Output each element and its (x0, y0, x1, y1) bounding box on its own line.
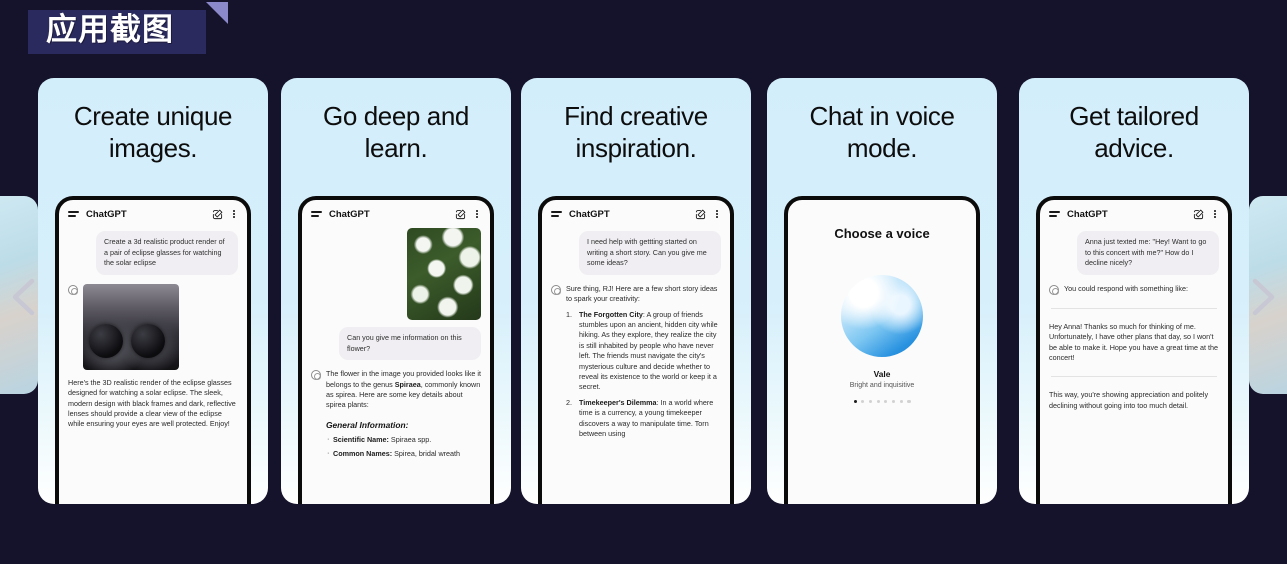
hamburger-icon[interactable] (551, 211, 562, 216)
more-vertical-icon[interactable] (230, 210, 238, 218)
phone-mockup: Choose a voice Vale Bright and inquisiti… (784, 196, 980, 504)
assistant-message-row: The flower in the image you provided loo… (311, 369, 481, 459)
chat-thread: I need help with gettting started on wri… (542, 231, 730, 439)
app-title: ChatGPT (1067, 209, 1108, 220)
voice-orb[interactable] (841, 275, 923, 357)
pagination-dot[interactable] (854, 400, 857, 403)
list-item-label: Scientific Name: (333, 435, 389, 444)
phone-app-header: ChatGPT (542, 200, 730, 228)
user-message-bubble: Anna just texted me: "Hey! Want to go to… (1077, 231, 1219, 275)
assistant-intro: You could respond with something like: (1064, 284, 1219, 295)
chat-thread: Can you give me information on this flow… (302, 228, 490, 460)
voice-screen-title: Choose a voice (788, 226, 976, 241)
hamburger-icon[interactable] (1049, 211, 1060, 216)
user-message-bubble: Create a 3d realistic product render of … (96, 231, 238, 275)
app-title: ChatGPT (569, 209, 610, 220)
chat-thread: Anna just texted me: "Hey! Want to go to… (1040, 231, 1228, 411)
assistant-reply-text: Here's the 3D realistic render of the ec… (68, 378, 238, 430)
chat-thread: Create a 3d realistic product render of … (59, 231, 247, 430)
more-vertical-icon[interactable] (1211, 210, 1219, 218)
genus-name: Spiraea (395, 380, 421, 389)
phone-app-header: ChatGPT (1040, 200, 1228, 228)
screenshot-card-4[interactable]: Chat in voice mode. Choose a voice Vale … (767, 78, 997, 504)
user-message-bubble: I need help with gettting started on wri… (579, 231, 721, 275)
assistant-message-row: You could respond with something like: (1049, 284, 1219, 295)
pagination-dot[interactable] (884, 400, 887, 403)
screenshot-card-3[interactable]: Find creative inspiration. ChatGPT I nee… (521, 78, 751, 504)
list-item: The Forgotten City: A group of friends s… (566, 310, 721, 393)
detail-list: Scientific Name: Spiraea spp. Common Nam… (326, 435, 481, 459)
uploaded-image-flower (407, 228, 481, 320)
voice-description: Bright and inquisitive (788, 382, 976, 389)
hamburger-icon[interactable] (311, 211, 322, 216)
assistant-reply-text: Sure thing, RJ! Here are a few short sto… (566, 284, 721, 440)
phone-mockup: ChatGPT Create a 3d realistic product re… (55, 196, 251, 504)
card-headline: Find creative inspiration. (521, 78, 751, 164)
list-item: Timekeeper's Dilemma: In a world where t… (566, 398, 721, 440)
closing-text: This way, you're showing appreciation an… (1049, 390, 1219, 411)
screenshot-card-2[interactable]: Go deep and learn. ChatGPT Can you give … (281, 78, 511, 504)
app-title: ChatGPT (86, 209, 127, 220)
list-item-label: Common Names: (333, 449, 392, 458)
pagination-dot[interactable] (900, 400, 903, 403)
assistant-reply-text: The flower in the image you provided loo… (326, 369, 481, 459)
card-headline: Go deep and learn. (281, 78, 511, 164)
compose-icon[interactable] (1193, 209, 1204, 220)
screenshot-card-1[interactable]: Create unique images. ChatGPT Create a 3… (38, 78, 268, 504)
pagination-dot[interactable] (869, 400, 872, 403)
chevron-left-icon (8, 276, 42, 318)
app-screenshots-page: 应用截图 Create unique images. ChatGPT (0, 0, 1287, 564)
list-item-value: Spiraea spp. (389, 435, 431, 444)
user-message-bubble: Can you give me information on this flow… (339, 327, 481, 360)
title-corner-notch (206, 2, 228, 24)
divider (1051, 376, 1217, 377)
hamburger-icon[interactable] (68, 211, 79, 216)
voice-name: Vale (788, 369, 976, 379)
voice-pagination-dots[interactable] (788, 400, 976, 403)
assistant-message-row: Sure thing, RJ! Here are a few short sto… (551, 284, 721, 440)
pagination-dot[interactable] (877, 400, 880, 403)
phone-app-header: ChatGPT (59, 200, 247, 228)
compose-icon[interactable] (455, 209, 466, 220)
compose-icon[interactable] (212, 209, 223, 220)
assistant-image-wrap (83, 284, 238, 370)
openai-logo-icon (311, 370, 321, 380)
phone-mockup: ChatGPT I need help with gettting starte… (538, 196, 734, 504)
card-headline: Chat in voice mode. (767, 78, 997, 164)
divider (1051, 308, 1217, 309)
phone-mockup: ChatGPT Anna just texted me: "Hey! Want … (1036, 196, 1232, 504)
page-title: 应用截图 (46, 8, 174, 52)
suggested-reply-text: Hey Anna! Thanks so much for thinking of… (1049, 322, 1219, 364)
section-heading: General Information: (326, 420, 481, 430)
phone-app-header: ChatGPT (302, 200, 490, 228)
carousel-next-button[interactable] (1245, 276, 1279, 318)
card-headline: Get tailored advice. (1019, 78, 1249, 164)
carousel-prev-button[interactable] (8, 276, 42, 318)
assistant-intro: Sure thing, RJ! Here are a few short sto… (566, 284, 717, 303)
chevron-right-icon (1245, 276, 1279, 318)
pagination-dot[interactable] (907, 400, 910, 403)
list-item: Scientific Name: Spiraea spp. (326, 435, 481, 445)
screenshot-carousel[interactable]: Create unique images. ChatGPT Create a 3… (0, 78, 1287, 504)
list-item-value: Spirea, bridal wreath (392, 449, 460, 458)
idea-body: : A group of friends stumbles upon an an… (579, 310, 718, 392)
assistant-message-row (68, 284, 238, 370)
story-idea-list: The Forgotten City: A group of friends s… (566, 310, 721, 440)
openai-logo-icon (68, 285, 78, 295)
compose-icon[interactable] (695, 209, 706, 220)
list-item: Common Names: Spirea, bridal wreath (326, 449, 481, 459)
openai-logo-icon (1049, 285, 1059, 295)
pagination-dot[interactable] (861, 400, 864, 403)
app-title: ChatGPT (329, 209, 370, 220)
generated-image-eclipse-glasses (83, 284, 179, 370)
screenshot-card-5[interactable]: Get tailored advice. ChatGPT Anna just t… (1019, 78, 1249, 504)
openai-logo-icon (551, 285, 561, 295)
idea-title: The Forgotten City (579, 310, 643, 319)
more-vertical-icon[interactable] (713, 210, 721, 218)
card-headline: Create unique images. (38, 78, 268, 164)
pagination-dot[interactable] (892, 400, 895, 403)
more-vertical-icon[interactable] (473, 210, 481, 218)
idea-title: Timekeeper's Dilemma (579, 398, 657, 407)
phone-mockup: ChatGPT Can you give me information on t… (298, 196, 494, 504)
page-title-block: 应用截图 (22, 2, 322, 62)
